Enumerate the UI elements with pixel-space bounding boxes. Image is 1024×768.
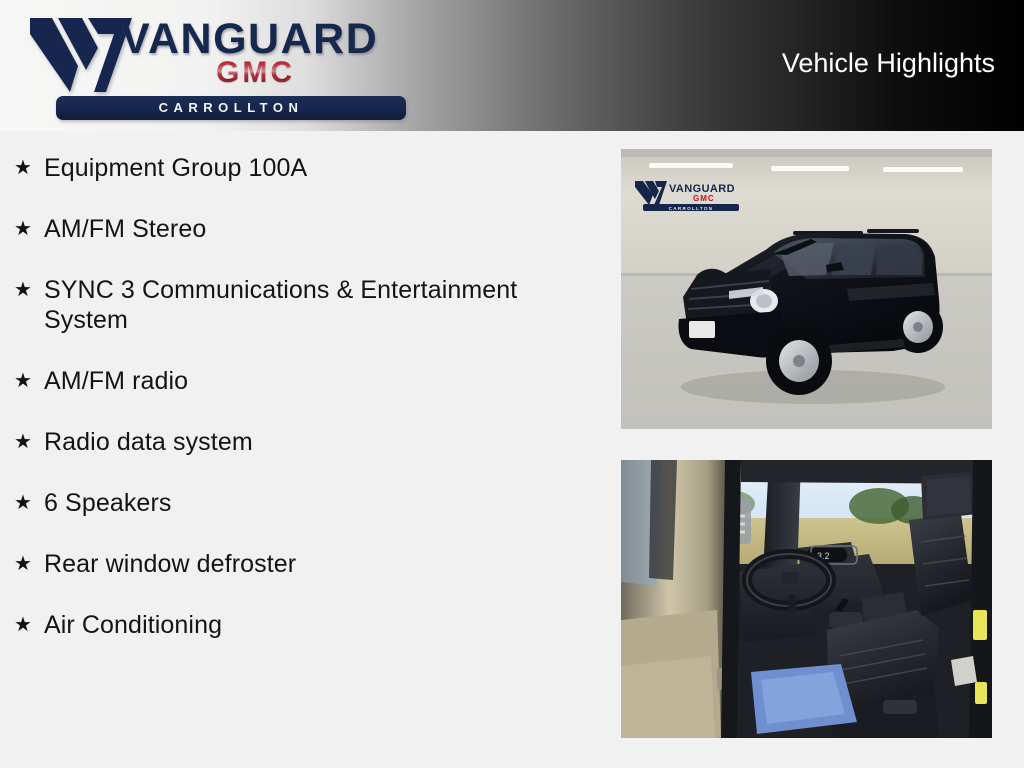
svg-text:CARROLLTON: CARROLLTON	[669, 206, 714, 211]
page-title: Vehicle Highlights	[782, 50, 995, 77]
list-item-label: Radio data system	[44, 427, 580, 457]
list-item-label: Equipment Group 100A	[44, 153, 580, 183]
star-bullet-icon: ★	[14, 610, 44, 640]
dealer-logo: VANGUARD GMC GMC CARROLLTON	[18, 4, 418, 126]
list-item: ★ AM/FM Stereo	[0, 214, 604, 244]
vanguard-x-mark-icon	[28, 14, 136, 98]
star-bullet-icon: ★	[14, 488, 44, 518]
vehicle-highlights-list: ★ Equipment Group 100A ★ AM/FM Stereo ★ …	[0, 131, 604, 671]
list-item-label: SYNC 3 Communications & Entertainment Sy…	[44, 275, 580, 335]
slide-body: ★ Equipment Group 100A ★ AM/FM Stereo ★ …	[0, 131, 1024, 768]
brand-wordmark: VANGUARD	[121, 18, 378, 61]
brand-location-label: CARROLLTON	[56, 101, 406, 114]
list-item: ★ AM/FM radio	[0, 366, 604, 396]
list-item-label: AM/FM radio	[44, 366, 580, 396]
list-item: ★ Air Conditioning	[0, 610, 604, 640]
star-bullet-icon: ★	[14, 214, 44, 244]
star-bullet-icon: ★	[14, 366, 44, 396]
vehicle-interior-photo: 3.2	[621, 460, 992, 738]
brand-make: GMC	[216, 58, 295, 88]
list-item-label: 6 Speakers	[44, 488, 580, 518]
brand-location-banner: CARROLLTON	[56, 96, 406, 120]
list-item-label: Air Conditioning	[44, 610, 580, 640]
showroom-wall-logo: VANGUARD GMC CARROLLTON	[633, 179, 745, 213]
list-item: ★ 6 Speakers	[0, 488, 604, 518]
svg-text:GMC: GMC	[693, 194, 715, 203]
list-item: ★ Equipment Group 100A	[0, 153, 604, 183]
list-item: ★ Rear window defroster	[0, 549, 604, 579]
list-item-label: Rear window defroster	[44, 549, 580, 579]
star-bullet-icon: ★	[14, 427, 44, 457]
vehicle-exterior-photo: VANGUARD GMC CARROLLTON	[621, 149, 992, 429]
list-item: ★ SYNC 3 Communications & Entertainment …	[0, 275, 604, 335]
star-bullet-icon: ★	[14, 275, 44, 305]
star-bullet-icon: ★	[14, 549, 44, 579]
header-bar: VANGUARD GMC GMC CARROLLTON Vehicle High…	[0, 0, 1024, 131]
list-item: ★ Radio data system	[0, 427, 604, 457]
slide-root: VANGUARD GMC GMC CARROLLTON Vehicle High…	[0, 0, 1024, 768]
star-bullet-icon: ★	[14, 153, 44, 183]
list-item-label: AM/FM Stereo	[44, 214, 580, 244]
